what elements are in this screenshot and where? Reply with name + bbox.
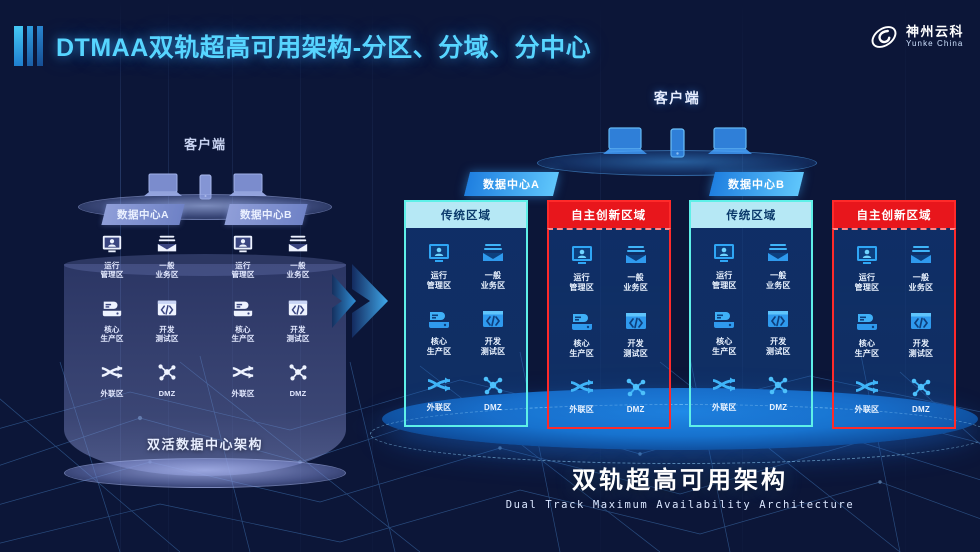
molecule-node-icon	[609, 372, 663, 402]
legacy-zone-cell: 运行 管理区	[216, 230, 271, 280]
legacy-zone-label: 开发 测试区	[271, 325, 326, 344]
client-label: 客户端	[542, 88, 812, 108]
legacy-platform-bottom	[64, 458, 346, 488]
zone-cell: 外联区	[555, 372, 609, 415]
zone-cell-label: 一般 业务区	[894, 273, 948, 294]
legacy-zone-label: 外联区	[216, 389, 271, 398]
legacy-zone-cell: 运行 管理区	[85, 230, 140, 280]
zone-cell-label: 开发 测试区	[609, 339, 663, 360]
brand-logo: 神州云科 Yunke China	[869, 22, 964, 52]
zone-cell-label: 核心 生产区	[840, 339, 894, 360]
zone-header: 传统区域	[689, 200, 813, 228]
zone-traditional-dc-b: 传统区域 运行 管理区 一般	[689, 200, 813, 429]
zone-cell: 开发 测试区	[466, 304, 520, 358]
code-window-icon	[751, 304, 805, 334]
legacy-zone-label: 运行 管理区	[85, 261, 140, 280]
code-window-icon	[609, 306, 663, 336]
legacy-client-label: 客户端	[74, 134, 336, 153]
zone-cell-label: 运行 管理区	[555, 273, 609, 294]
molecule-node-icon	[140, 358, 195, 386]
zone-cell: 运行 管理区	[555, 240, 609, 294]
legacy-zone-cell: 开发 测试区	[140, 294, 195, 344]
zone-cell-label: 运行 管理区	[412, 271, 466, 292]
arrows-cross-icon	[85, 358, 140, 386]
legacy-zone-label: DMZ	[271, 389, 326, 398]
arrows-cross-icon	[412, 370, 466, 400]
zone-cell-label: DMZ	[609, 405, 663, 415]
inbox-stack-icon	[609, 240, 663, 270]
swirl-logo-icon	[869, 22, 899, 52]
legacy-zone-label: DMZ	[140, 389, 195, 398]
zone-cell-label: 开发 测试区	[894, 339, 948, 360]
zone-cell-label: 运行 管理区	[697, 271, 751, 292]
zone-innovation-dc-a: 自主创新区域 运行 管理区 一般	[547, 200, 671, 429]
legacy-datacenter-badge-b: 数据中心B	[225, 204, 308, 225]
legacy-zone-label: 外联区	[85, 389, 140, 398]
arrows-cross-icon	[555, 372, 609, 402]
zone-cell: DMZ	[751, 370, 805, 413]
legacy-datacenter-b: 运行 管理区 一般 业务区	[216, 230, 326, 398]
monitor-person-icon	[555, 240, 609, 270]
zone-cell-label: DMZ	[466, 403, 520, 413]
page-header: DTMAA双轨超高可用架构-分区、分域、分中心 神州云科 Yunke China	[0, 0, 980, 80]
zone-header: 传统区域	[404, 200, 528, 228]
zone-cell-label: DMZ	[894, 405, 948, 415]
zone-cell-label: DMZ	[751, 403, 805, 413]
code-window-icon	[271, 294, 326, 322]
molecule-node-icon	[751, 370, 805, 400]
server-doc-icon	[216, 294, 271, 322]
zone-cell: 开发 测试区	[751, 304, 805, 358]
legacy-architecture-diagram: 客户端 数据中心A 数据中心B	[74, 118, 336, 458]
legacy-zone-cell: 一般 业务区	[140, 230, 195, 280]
arrows-cross-icon	[216, 358, 271, 386]
brand-name-en: Yunke China	[906, 40, 964, 49]
legacy-zone-cell: 开发 测试区	[271, 294, 326, 344]
zone-cell: 一般 业务区	[894, 240, 948, 294]
zone-header: 自主创新区域	[547, 200, 671, 228]
legacy-zone-label: 开发 测试区	[140, 325, 195, 344]
zone-cell-label: 外联区	[555, 405, 609, 415]
zone-cell-label: 开发 测试区	[466, 337, 520, 358]
zone-cell: 外联区	[840, 372, 894, 415]
code-window-icon	[894, 306, 948, 336]
zone-cell: 核心 生产区	[840, 306, 894, 360]
zone-cell-label: 外联区	[840, 405, 894, 415]
molecule-node-icon	[894, 372, 948, 402]
legacy-zone-cell: 核心 生产区	[85, 294, 140, 344]
architecture-caption: 双轨超高可用架构 Dual Track Maximum Availability…	[392, 460, 968, 511]
zone-header: 自主创新区域	[832, 200, 956, 228]
zone-cell-label: 一般 业务区	[609, 273, 663, 294]
page-title: DTMAA双轨超高可用架构-分区、分域、分中心	[56, 28, 591, 64]
three-bars-icon	[14, 26, 43, 66]
zone-traditional-dc-a: 传统区域 运行 管理区 一般	[404, 200, 528, 429]
datacenter-badge-a: 数据中心A	[464, 172, 559, 196]
monitor-person-icon	[697, 238, 751, 268]
legacy-datacenter-badge-a: 数据中心A	[102, 204, 185, 225]
legacy-zone-label: 核心 生产区	[216, 325, 271, 344]
caption-english: Dual Track Maximum Availability Architec…	[392, 499, 968, 511]
datacenter-badge-b: 数据中心B	[709, 172, 804, 196]
legacy-zone-cell: 外联区	[216, 358, 271, 398]
zone-cell-label: 外联区	[412, 403, 466, 413]
legacy-diagram-caption: 双活数据中心架构	[74, 434, 336, 453]
zone-cell: 一般 业务区	[609, 240, 663, 294]
zone-cell-label: 一般 业务区	[466, 271, 520, 292]
legacy-zone-cell: 外联区	[85, 358, 140, 398]
legacy-zone-label: 一般 业务区	[140, 261, 195, 280]
legacy-datacenter-a: 运行 管理区 一般 业务区	[85, 230, 195, 398]
molecule-node-icon	[271, 358, 326, 386]
monitor-person-icon	[412, 238, 466, 268]
inbox-stack-icon	[894, 240, 948, 270]
legacy-zone-cell: 核心 生产区	[216, 294, 271, 344]
zone-cell: 一般 业务区	[466, 238, 520, 292]
legacy-zone-label: 运行 管理区	[216, 261, 271, 280]
inbox-stack-icon	[271, 230, 326, 258]
server-doc-icon	[555, 306, 609, 336]
arrows-cross-icon	[697, 370, 751, 400]
zone-columns: 传统区域 运行 管理区 一般	[404, 200, 956, 429]
zone-innovation-dc-b: 自主创新区域 运行 管理区 一般	[832, 200, 956, 429]
zone-cell: 开发 测试区	[894, 306, 948, 360]
zone-cell: DMZ	[466, 370, 520, 413]
zone-cell-label: 开发 测试区	[751, 337, 805, 358]
inbox-stack-icon	[140, 230, 195, 258]
server-doc-icon	[840, 306, 894, 336]
monitor-person-icon	[216, 230, 271, 258]
code-window-icon	[466, 304, 520, 334]
legacy-zone-label: 核心 生产区	[85, 325, 140, 344]
zone-cell: 一般 业务区	[751, 238, 805, 292]
caption-chinese: 双轨超高可用架构	[392, 460, 968, 495]
zone-cell-label: 核心 生产区	[412, 337, 466, 358]
zone-cell: 核心 生产区	[697, 304, 751, 358]
zone-cell: 外联区	[697, 370, 751, 413]
zone-cell: 外联区	[412, 370, 466, 413]
server-doc-icon	[412, 304, 466, 334]
arrows-cross-icon	[840, 372, 894, 402]
legacy-zone-label: 一般 业务区	[271, 261, 326, 280]
zone-cell-label: 外联区	[697, 403, 751, 413]
zone-cell: 核心 生产区	[555, 306, 609, 360]
legacy-zone-cell: DMZ	[271, 358, 326, 398]
inbox-stack-icon	[751, 238, 805, 268]
inbox-stack-icon	[466, 238, 520, 268]
monitor-person-icon	[840, 240, 894, 270]
monitor-person-icon	[85, 230, 140, 258]
zone-cell: DMZ	[894, 372, 948, 415]
zone-cell: 运行 管理区	[412, 238, 466, 292]
zone-cell-label: 核心 生产区	[697, 337, 751, 358]
brand-name-cn: 神州云科	[906, 25, 964, 40]
zone-cell: 核心 生产区	[412, 304, 466, 358]
zone-cell-label: 一般 业务区	[751, 271, 805, 292]
legacy-zone-cell: 一般 业务区	[271, 230, 326, 280]
zone-cell-label: 核心 生产区	[555, 339, 609, 360]
legacy-zone-columns: 运行 管理区 一般 业务区	[74, 230, 336, 398]
server-doc-icon	[85, 294, 140, 322]
zone-cell: DMZ	[609, 372, 663, 415]
code-window-icon	[140, 294, 195, 322]
zone-cell: 运行 管理区	[697, 238, 751, 292]
zone-cell: 运行 管理区	[840, 240, 894, 294]
dtmaa-architecture-diagram: 客户端 数据中心A 数据中心B 传统区域	[392, 88, 968, 508]
legacy-zone-cell: DMZ	[140, 358, 195, 398]
zone-cell: 开发 测试区	[609, 306, 663, 360]
legacy-datacenter-badges: 数据中心A 数据中心B	[74, 204, 336, 225]
molecule-node-icon	[466, 370, 520, 400]
double-chevron-right-icon	[330, 258, 396, 344]
server-doc-icon	[697, 304, 751, 334]
zone-cell-label: 运行 管理区	[840, 273, 894, 294]
